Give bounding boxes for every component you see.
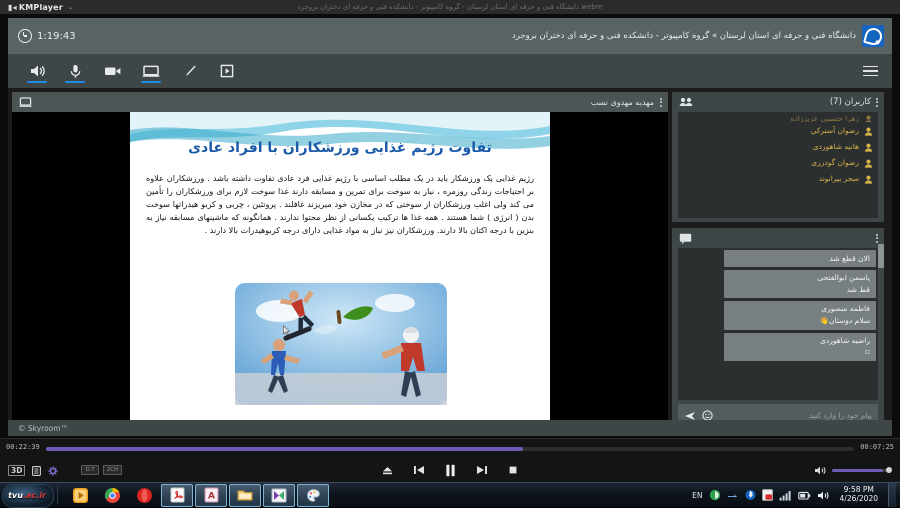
eject-button[interactable] <box>382 466 393 475</box>
player-controls: 00:22:39 00:07:25 3D D.T 2CH <box>0 438 900 483</box>
chat-message-text: الان قطع شد <box>730 253 870 264</box>
chat-input-placeholder[interactable]: پیام خود را وارد کنید <box>809 411 872 420</box>
volume-slider[interactable] <box>832 469 890 472</box>
chat-panel: الان قطع شد یاسمن ابوالفتحی قط شد فاطمه … <box>672 228 884 432</box>
antivirus-icon[interactable] <box>709 486 721 505</box>
taskbar-item-media-player[interactable] <box>65 485 95 506</box>
skyroom-toolbar <box>8 54 892 88</box>
screen-share-icon[interactable] <box>134 56 168 86</box>
media-play-icon[interactable] <box>210 56 244 86</box>
users-options-icon[interactable] <box>876 98 878 107</box>
taskbar-item-explorer[interactable] <box>229 484 261 507</box>
clock-date: 4/26/2020 <box>840 495 878 504</box>
next-button[interactable] <box>476 465 488 475</box>
users-panel-title: کاربران (7) <box>830 97 871 107</box>
taskbar-item-paint[interactable] <box>297 484 329 507</box>
seek-slider[interactable] <box>46 447 854 451</box>
camera-icon[interactable] <box>96 56 130 86</box>
microphone-icon[interactable] <box>58 56 92 86</box>
chat-bubble-icon <box>679 233 692 244</box>
seek-row: 00:22:39 00:07:25 <box>0 443 900 453</box>
user-avatar-icon <box>864 114 873 122</box>
file-title: webm.دانشگاه فنی و حرفه ای استان لرستان … <box>0 3 900 11</box>
language-indicator[interactable]: EN <box>692 491 702 500</box>
chat-message-text: ▫ <box>730 346 870 357</box>
skyroom-app: 1:19:43 دانشگاه فنی و حرفه ای استان لرست… <box>8 18 892 436</box>
session-timer: 1:19:43 <box>18 29 76 43</box>
chat-message-text: قط شد <box>730 284 870 295</box>
volume-icon[interactable] <box>814 461 827 480</box>
session-timer-value: 1:19:43 <box>37 31 76 42</box>
menu-icon[interactable] <box>863 66 878 77</box>
taskbar-item-access[interactable]: A <box>195 484 227 507</box>
list-item: راضیه شاهوردی ▫ <box>724 333 876 361</box>
audio-tag-2ch: 2CH <box>103 465 122 475</box>
skyroom-footer: © Skyroom™ <box>8 420 892 436</box>
user-name: هانیه شاهوردی <box>813 142 859 151</box>
right-rail: کاربران (7) زهرا حسینی عزیززاده رضوان آس… <box>672 92 884 432</box>
video-stage[interactable]: 1:19:43 دانشگاه فنی و حرفه ای استان لرست… <box>0 14 900 438</box>
bluetooth-icon[interactable] <box>745 486 756 505</box>
slide-illustration-apple-athletes <box>225 277 455 417</box>
signal-bars-icon[interactable] <box>779 486 792 505</box>
playlist-icon[interactable] <box>32 461 41 480</box>
presentation-viewport[interactable]: تفاوت رژیم غذایی ورزشکاران با افراد عادی… <box>12 112 668 432</box>
user-name: زهرا حسینی عزیززاده <box>791 114 860 122</box>
user-name: رضوان گودرزی <box>811 158 859 167</box>
user-avatar-icon <box>864 169 873 188</box>
mouse-cursor <box>283 325 290 336</box>
start-button[interactable]: tvu.ac.ir <box>0 483 54 507</box>
chat-message-author: فاطمه منصوری <box>730 304 870 315</box>
whiteboard-pen-icon[interactable] <box>172 56 206 86</box>
elapsed-time: 00:22:39 <box>6 443 40 451</box>
slide-body-text: رژیم غذایی یک ورزشکار باید در یک مطلب اس… <box>146 172 534 238</box>
list-item: الان قطع شد <box>724 250 876 267</box>
pdf-tray-icon[interactable] <box>762 486 773 505</box>
list-item: فاطمه منصوری سلام دوستان👋 <box>724 301 876 329</box>
volume-tray-icon[interactable] <box>817 486 830 505</box>
previous-button[interactable] <box>413 465 425 475</box>
show-desktop-button[interactable] <box>888 483 896 507</box>
taskbar-item-opera[interactable] <box>129 485 159 506</box>
presentation-panel: مهدیه مهدوی نسب تفاوت <box>12 92 668 432</box>
start-label-secondary: .ac.ir <box>23 491 46 500</box>
presenter-name: مهدیه مهدوی نسب <box>591 98 654 107</box>
presentation-header: مهدیه مهدوی نسب <box>12 92 668 112</box>
room-title: دانشگاه فنی و حرفه ای استان لرستان » گرو… <box>512 31 862 41</box>
slide-decoration <box>130 112 550 164</box>
user-name: سحر بیرانوند <box>819 174 859 183</box>
people-icon <box>679 97 693 107</box>
seek-progress <box>46 447 523 451</box>
list-item[interactable]: هانیه شاهوردی <box>678 138 878 154</box>
taskbar-item-chrome[interactable] <box>97 485 127 506</box>
list-item[interactable]: رضوان آسترکی <box>678 122 878 138</box>
windows-taskbar: tvu.ac.ir A <box>0 482 900 507</box>
remaining-time: 00:07:25 <box>860 443 894 451</box>
taskbar-item-kmplayer[interactable] <box>263 484 295 507</box>
list-item: یاسمن ابوالفتحی قط شد <box>724 270 876 298</box>
volume-control[interactable] <box>814 461 890 480</box>
transport-row: 3D D.T 2CH <box>0 457 900 483</box>
start-label-primary: tvu <box>8 491 23 500</box>
skyroom-header: 1:19:43 دانشگاه فنی و حرفه ای استان لرست… <box>8 18 892 54</box>
user-name: رضوان آسترکی <box>811 126 859 135</box>
scrollbar-thumb[interactable] <box>878 244 884 268</box>
organization-logo-icon <box>862 25 884 47</box>
list-item[interactable]: سحر بیرانوند <box>678 170 878 186</box>
slide: تفاوت رژیم غذایی ورزشکاران با افراد عادی… <box>130 112 550 432</box>
system-tray: EN 9:58 PM 4/26/ <box>692 483 900 507</box>
screen-share-icon <box>19 93 32 112</box>
users-panel-header: کاربران (7) <box>672 92 884 112</box>
clock-icon <box>18 29 32 43</box>
chat-message-author: راضیه شاهوردی <box>730 336 870 347</box>
taskbar-items: A <box>65 484 329 507</box>
stop-button[interactable] <box>508 465 518 475</box>
svg-text:A: A <box>208 491 215 501</box>
volume-level <box>832 469 883 472</box>
three-d-button[interactable]: 3D <box>8 465 25 476</box>
divider <box>57 486 58 504</box>
taskbar-clock[interactable]: 9:58 PM 4/26/2020 <box>836 486 882 504</box>
player-title-bar: ▮◂ KMPlayer ⌄ webm.دانشگاه فنی و حرفه ای… <box>0 0 900 15</box>
chat-message-text: سلام دوستان👋 <box>730 315 870 326</box>
skyroom-copyright: © Skyroom™ <box>18 424 68 433</box>
battery-icon[interactable] <box>798 486 811 505</box>
list-item[interactable]: رضوان گودرزی <box>678 154 878 170</box>
chat-message-author: یاسمن ابوالفتحی <box>730 273 870 284</box>
screen: ▮◂ KMPlayer ⌄ webm.دانشگاه فنی و حرفه ای… <box>0 0 900 506</box>
presentation-options-icon[interactable] <box>660 98 662 107</box>
chat-options-icon[interactable] <box>876 234 878 243</box>
chat-panel-header <box>672 228 884 248</box>
users-list[interactable]: زهرا حسینی عزیززاده رضوان آسترکی <box>678 112 878 218</box>
list-item[interactable]: زهرا حسینی عزیززاده <box>678 114 878 122</box>
settings-gear-icon[interactable] <box>48 461 58 480</box>
network-share-icon[interactable] <box>727 486 739 505</box>
pause-button[interactable] <box>445 464 456 477</box>
slide-title: تفاوت رژیم غذایی ورزشکاران با افراد عادی <box>130 140 550 156</box>
chat-messages[interactable]: الان قطع شد یاسمن ابوالفتحی قط شد فاطمه … <box>678 248 878 400</box>
audio-tag-dt: D.T <box>81 465 98 475</box>
speaker-icon[interactable] <box>20 56 54 86</box>
taskbar-item-acrobat-reader[interactable] <box>161 484 193 507</box>
users-panel: کاربران (7) زهرا حسینی عزیززاده رضوان آس… <box>672 92 884 222</box>
volume-knob[interactable] <box>886 467 892 473</box>
